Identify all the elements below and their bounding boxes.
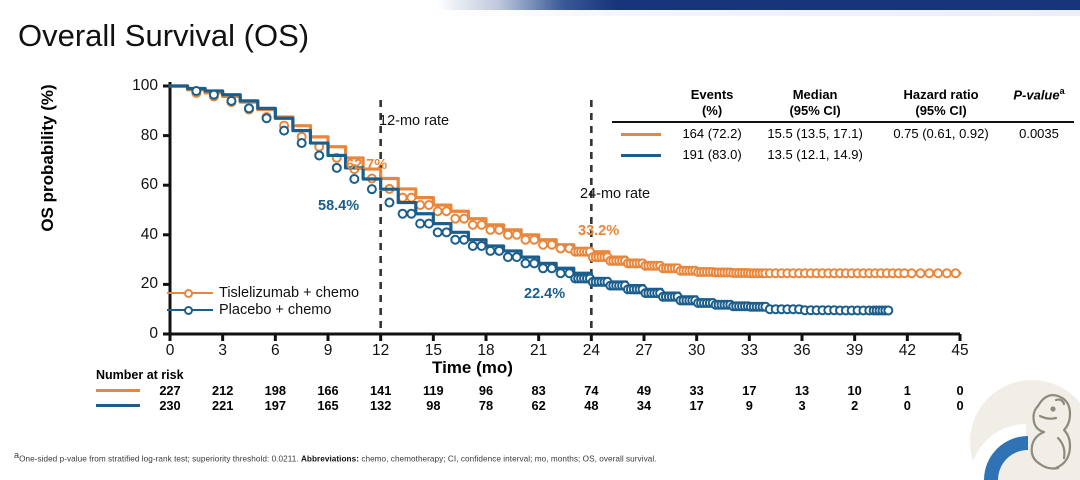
- merlion-logo: [954, 376, 1080, 480]
- stats-row-hr-blue: [878, 144, 1004, 165]
- number-at-risk-cell: 197: [258, 398, 292, 413]
- annotation-12mo-orange: 62.7%: [346, 157, 387, 173]
- stats-header-row-1: Events Median Hazard ratio P-valuea: [612, 84, 1074, 104]
- number-at-risk-row-orange: 227212198166141119968374493317131010: [96, 383, 996, 398]
- annotation-12mo-blue: 58.4%: [318, 198, 359, 214]
- number-at-risk-cell: 9: [732, 398, 766, 413]
- number-at-risk-cell: 34: [627, 398, 661, 413]
- number-at-risk-cell: 33: [680, 383, 714, 398]
- stats-row-events-orange: 164 (72.2): [672, 122, 752, 144]
- stats-header-events-2: (%): [672, 104, 752, 123]
- footnote-text-before: One-sided p-value from stratified log-ra…: [19, 455, 301, 464]
- number-at-risk-cell: 96: [469, 383, 503, 398]
- number-at-risk-cell: 2: [838, 398, 872, 413]
- legend-line-icon-orange: [167, 287, 213, 299]
- number-at-risk-cell: 17: [680, 398, 714, 413]
- stats-row-swatch-blue: [612, 144, 672, 165]
- statistics-table: Events Median Hazard ratio P-valuea (%) …: [612, 84, 1074, 165]
- footnote-abbreviations-label: Abbreviations:: [301, 455, 359, 464]
- stats-header-swatch-1: [612, 84, 672, 104]
- number-at-risk-cell: 227: [153, 383, 187, 398]
- number-at-risk-cell: 83: [522, 383, 556, 398]
- stats-row-events-blue: 191 (83.0): [672, 144, 752, 165]
- footnote: aOne-sided p-value from stratified log-r…: [14, 450, 657, 464]
- number-at-risk-cell: 141: [364, 383, 398, 398]
- legend-label-tislelizumab: Tislelizumab + chemo: [219, 285, 359, 301]
- number-at-risk-values-blue: 23022119716513298786248341793200: [144, 398, 996, 413]
- number-at-risk-title: Number at risk: [96, 368, 996, 382]
- number-at-risk-cell: 166: [311, 383, 345, 398]
- number-at-risk-cell: 221: [206, 398, 240, 413]
- number-at-risk-cell: 49: [627, 383, 661, 398]
- number-at-risk-cell: 13: [785, 383, 819, 398]
- stats-row-pvalue-blue: [1004, 144, 1074, 165]
- annotation-24mo-blue: 22.4%: [524, 286, 565, 302]
- footnote-text-after: chemo, chemotherapy; CI, confidence inte…: [359, 455, 657, 464]
- number-at-risk-cell: 48: [574, 398, 608, 413]
- number-at-risk-cell: 132: [364, 398, 398, 413]
- legend-label-placebo: Placebo + chemo: [219, 302, 331, 318]
- number-at-risk-cell: 230: [153, 398, 187, 413]
- stats-header-median-2: (95% CI): [752, 104, 878, 123]
- number-at-risk-row-blue: 23022119716513298786248341793200: [96, 398, 996, 413]
- stats-header-pvalue: P-valuea: [1004, 84, 1074, 104]
- number-at-risk-cell: 198: [258, 383, 292, 398]
- number-at-risk-cell: 78: [469, 398, 503, 413]
- number-at-risk-cell: 119: [416, 383, 450, 398]
- stats-header-swatch-2: [612, 104, 672, 123]
- chart-legend: Tislelizumab + chemo Placebo + chemo: [167, 284, 359, 318]
- stats-row-swatch-orange: [612, 122, 672, 144]
- stats-header-events-1: Events: [672, 84, 752, 104]
- annotation-12mo-rate: 12-mo rate: [379, 113, 449, 129]
- number-at-risk-table: Number at risk 2272121981661411199683744…: [96, 368, 996, 413]
- stats-header-hr-1: Hazard ratio: [878, 84, 1004, 104]
- number-at-risk-cell: 0: [890, 398, 924, 413]
- number-at-risk-cell: 3: [785, 398, 819, 413]
- table-row: 164 (72.2) 15.5 (13.5, 17.1) 0.75 (0.61,…: [612, 122, 1074, 144]
- number-at-risk-cell: 62: [522, 398, 556, 413]
- number-at-risk-cell: 98: [416, 398, 450, 413]
- number-at-risk-swatch-blue: [96, 404, 140, 407]
- number-at-risk-cell: 212: [206, 383, 240, 398]
- annotation-24mo-orange: 33.2%: [578, 223, 619, 239]
- stats-header-pvalue-superscript: a: [1060, 86, 1065, 96]
- stats-row-hr-orange: 0.75 (0.61, 0.92): [878, 122, 1004, 144]
- legend-line-icon-blue: [167, 304, 213, 316]
- stats-header-row-2: (%) (95% CI) (95% CI): [612, 104, 1074, 123]
- number-at-risk-cell: 1: [890, 383, 924, 398]
- number-at-risk-cell: 10: [838, 383, 872, 398]
- number-at-risk-cell: 74: [574, 383, 608, 398]
- stats-header-median-1: Median: [752, 84, 878, 104]
- stats-row-median-blue: 13.5 (12.1, 14.9): [752, 144, 878, 165]
- number-at-risk-values-orange: 227212198166141119968374493317131010: [144, 383, 996, 398]
- number-at-risk-cell: 17: [732, 383, 766, 398]
- stats-header-pvalue-text: P-value: [1013, 87, 1059, 102]
- stats-header-hr-2: (95% CI): [878, 104, 1004, 123]
- number-at-risk-cell: 165: [311, 398, 345, 413]
- stats-row-pvalue-orange: 0.0035: [1004, 122, 1074, 144]
- stats-row-median-orange: 15.5 (13.5, 17.1): [752, 122, 878, 144]
- annotation-24mo-rate: 24-mo rate: [580, 186, 650, 202]
- stats-header-pvalue-2: [1004, 104, 1074, 123]
- number-at-risk-swatch-orange: [96, 389, 140, 392]
- table-row: 191 (83.0) 13.5 (12.1, 14.9): [612, 144, 1074, 165]
- legend-item-tislelizumab: Tislelizumab + chemo: [167, 284, 359, 301]
- legend-item-placebo: Placebo + chemo: [167, 301, 359, 318]
